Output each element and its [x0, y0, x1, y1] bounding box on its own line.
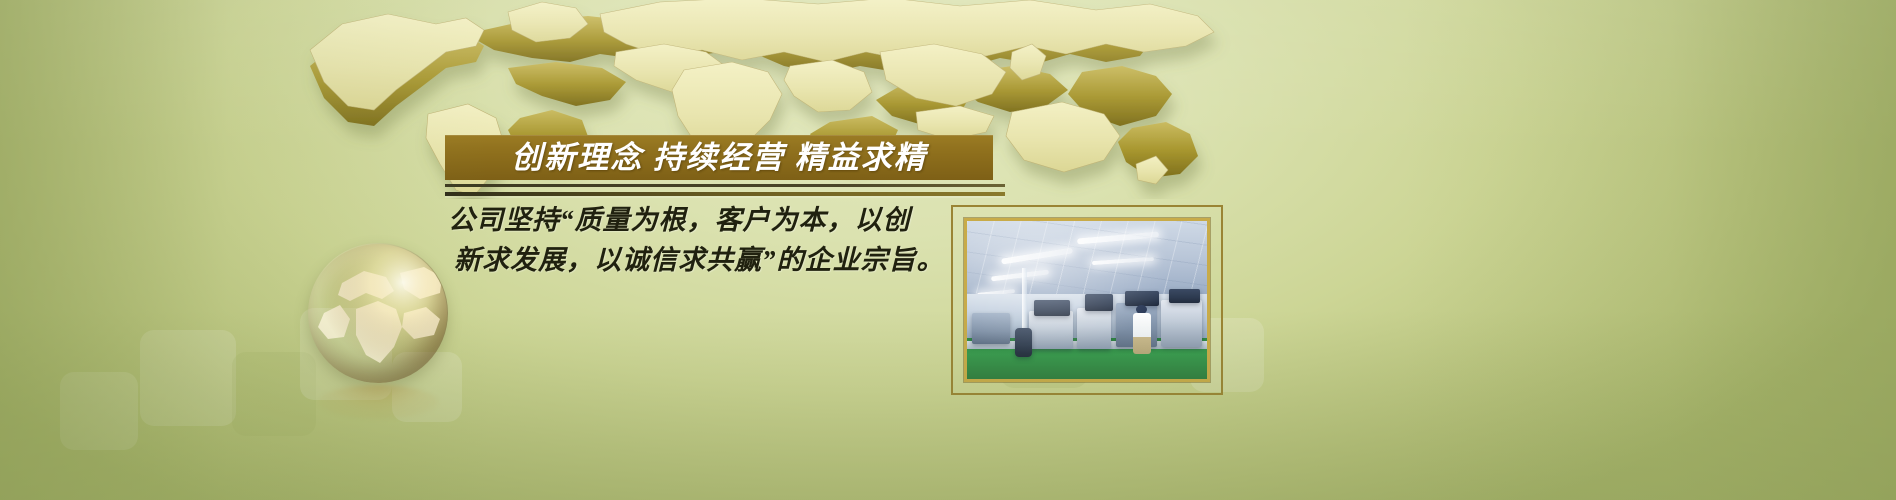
- globe-sphere: [308, 243, 448, 383]
- subtitle-line-2: 新求发展，以诚信求共赢”的企业宗旨。: [448, 240, 968, 280]
- factory-photo: [967, 221, 1207, 379]
- photo-machine: [1034, 300, 1070, 316]
- photo-machine: [1169, 289, 1200, 303]
- photo-frame-outer: [951, 205, 1223, 395]
- globe-continents: [308, 243, 448, 383]
- headline-text: 创新理念 持续经营 精益求精: [445, 135, 993, 180]
- golden-globe: [308, 243, 454, 418]
- photo-machine: [1161, 300, 1202, 347]
- photo-frame-inner: [964, 218, 1210, 382]
- photo-machine: [972, 313, 1010, 345]
- photo-machine: [1085, 294, 1114, 311]
- watermark-square: [300, 308, 392, 400]
- subtitle-block: 公司坚持“质量为根，客户为本，以创 新求发展，以诚信求共赢”的企业宗旨。: [448, 200, 968, 280]
- photo-equipment: [1015, 328, 1032, 356]
- photo-machine: [1029, 311, 1072, 349]
- watermark-square: [392, 352, 462, 422]
- divider-rule-lower: [445, 192, 1005, 196]
- divider-rule-upper: [445, 184, 1005, 187]
- subtitle-line-1: 公司坚持“质量为根，客户为本，以创: [448, 200, 968, 240]
- globe-reflection: [318, 385, 438, 419]
- company-banner: 创新理念 持续经营 精益求精 公司坚持“质量为根，客户为本，以创 新求发展，以诚…: [0, 0, 1896, 500]
- headline-band: 创新理念 持续经营 精益求精: [445, 135, 993, 180]
- photo-machine: [1077, 308, 1111, 349]
- photo-machine: [1125, 291, 1159, 307]
- watermark-square: [232, 352, 316, 436]
- watermark-square: [60, 372, 138, 450]
- watermark-square: [140, 330, 236, 426]
- photo-worker-body: [1133, 313, 1151, 354]
